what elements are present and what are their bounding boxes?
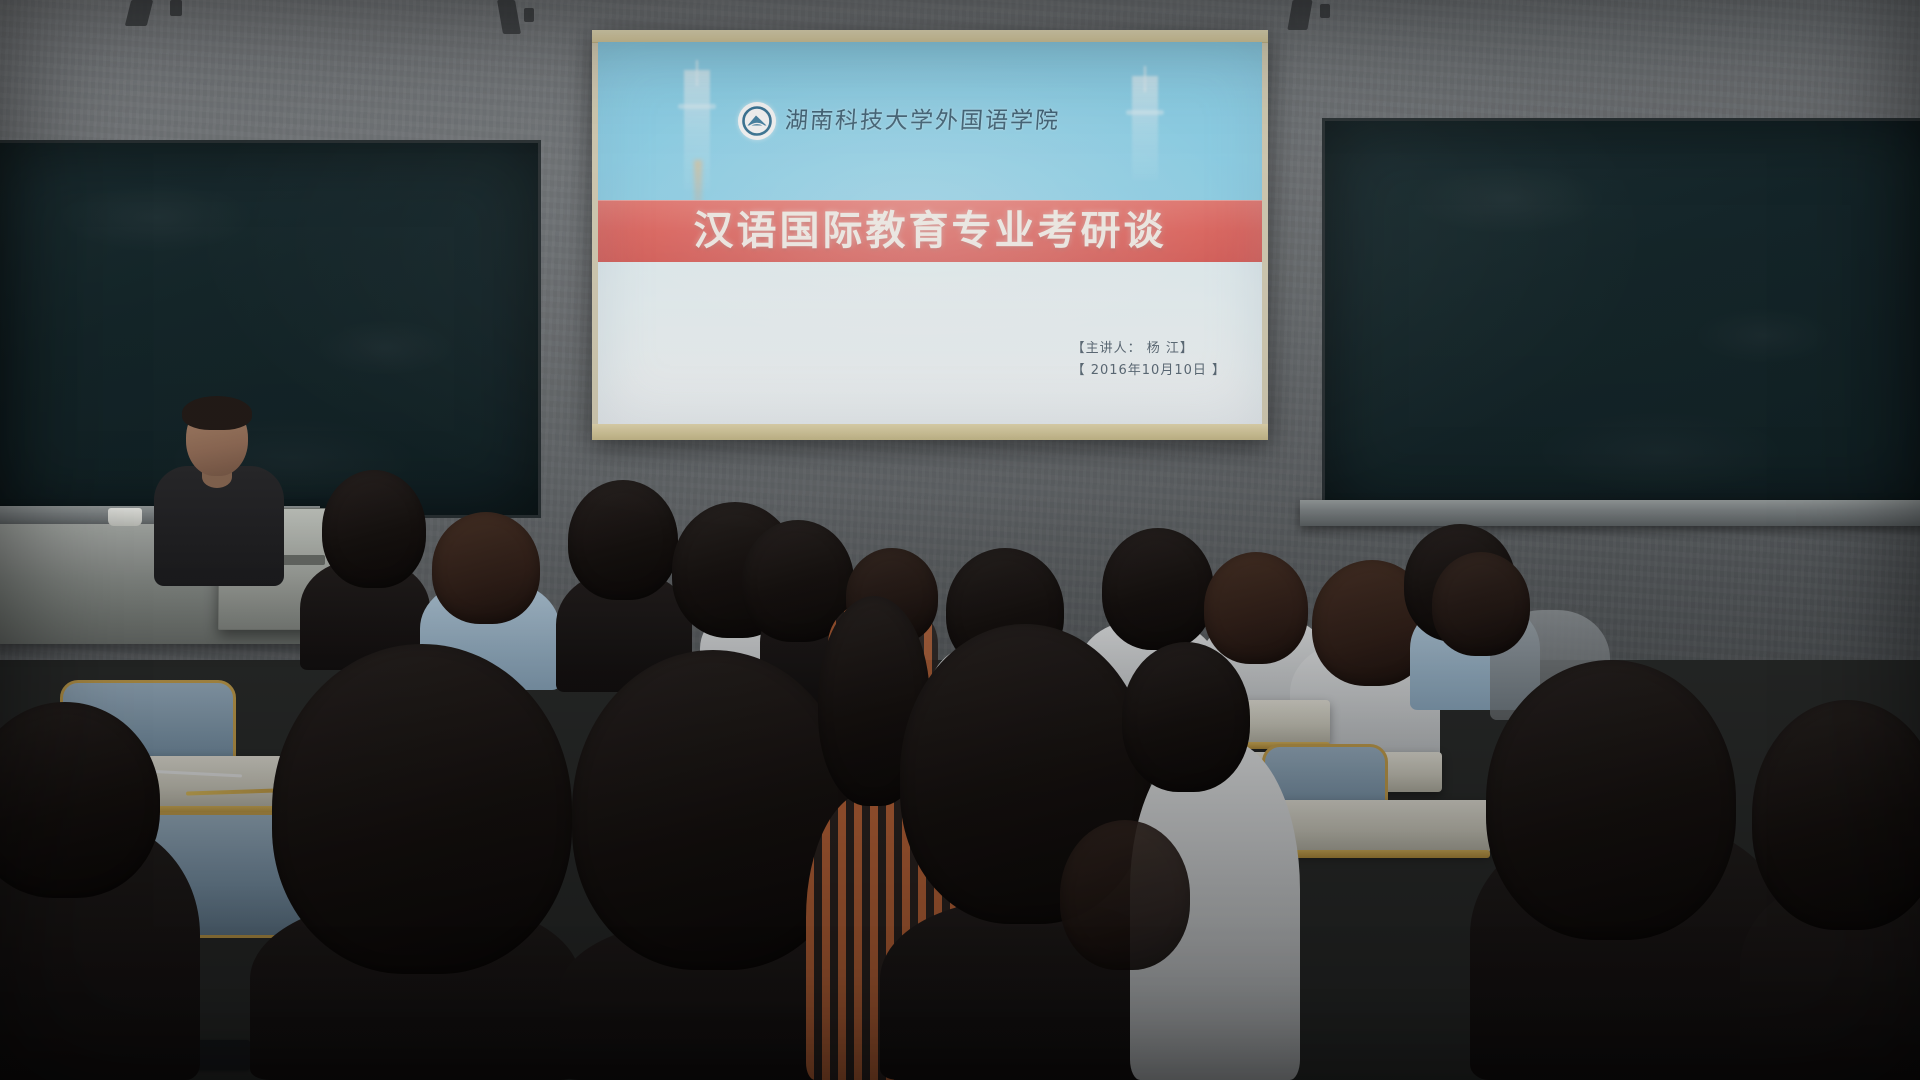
presentation-slide: 湖南科技大学外国语学院 汉语国际教育专业考研谈 【主讲人： 杨 江】 【 201… bbox=[598, 42, 1262, 424]
presenter-line: 【主讲人： 杨 江】 bbox=[1072, 338, 1226, 360]
screen-bottom-rail bbox=[592, 424, 1268, 440]
slide-header-band: 湖南科技大学外国语学院 bbox=[598, 42, 1262, 197]
slide-title: 汉语国际教育专业考研谈 bbox=[694, 211, 1167, 251]
student-head-foreground bbox=[1060, 820, 1190, 970]
ceiling-fixture-icon bbox=[524, 8, 534, 22]
lecturer-hair bbox=[182, 396, 252, 430]
student-head bbox=[432, 512, 540, 624]
student-head bbox=[568, 480, 678, 600]
chalk-dust-texture bbox=[1325, 121, 1920, 511]
date-line: 【 2016年10月10日 】 bbox=[1072, 360, 1226, 382]
student-head bbox=[1432, 552, 1530, 656]
lecturer bbox=[150, 400, 310, 580]
slide-meta-block: 【主讲人： 杨 江】 【 2016年10月10日 】 bbox=[1072, 338, 1226, 382]
cup-on-ledge bbox=[108, 508, 142, 526]
ceiling-fixture-icon bbox=[170, 0, 182, 16]
pagoda-watermark-icon bbox=[1132, 76, 1158, 180]
student-head bbox=[1102, 528, 1214, 650]
university-emblem-icon bbox=[738, 102, 776, 140]
slide-title-banner: 汉语国际教育专业考研谈 bbox=[598, 200, 1262, 262]
student-head bbox=[1204, 552, 1308, 664]
chalkboard-right bbox=[1322, 118, 1920, 514]
ceiling-fixture-icon bbox=[1320, 4, 1330, 18]
chalk-tray-right bbox=[1300, 500, 1920, 526]
student-head-foreground bbox=[1752, 700, 1920, 930]
student-head-foreground bbox=[1122, 642, 1250, 792]
student-head-foreground bbox=[272, 644, 572, 974]
institution-logo-row: 湖南科技大学外国语学院 bbox=[738, 102, 1060, 140]
student-head bbox=[322, 470, 426, 588]
student-head-foreground bbox=[1486, 660, 1736, 940]
lecture-hall-scene: 湖南科技大学外国语学院 汉语国际教育专业考研谈 【主讲人： 杨 江】 【 201… bbox=[0, 0, 1920, 1080]
projection-screen: 湖南科技大学外国语学院 汉语国际教育专业考研谈 【主讲人： 杨 江】 【 201… bbox=[592, 30, 1268, 440]
institution-name: 湖南科技大学外国语学院 bbox=[784, 110, 1061, 133]
